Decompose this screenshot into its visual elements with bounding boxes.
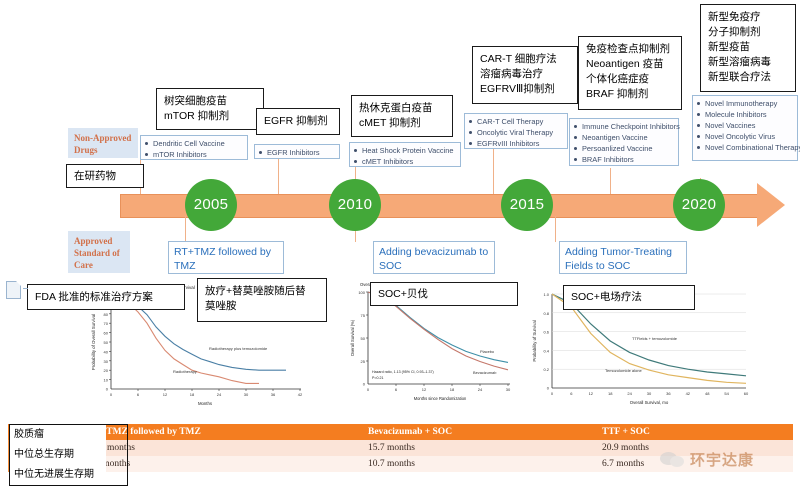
svg-text:18: 18: [190, 392, 195, 397]
chart-2-annotation-1: Hazard ratio, 1.13 (95% CI, 0.93–1.37): [372, 370, 434, 374]
chart-2-series-1-label: Placebo: [480, 349, 494, 354]
legend-approved-text: Approved Standard of Care: [74, 236, 120, 270]
therapy-en-item: Molecule Inhibitors: [697, 109, 793, 120]
therapy-cn-box-1[interactable]: 树突细胞疫苗 mTOR 抑制剂: [156, 88, 264, 130]
soc-label: Adding bevacizumab to SOC: [379, 246, 488, 272]
chart-2-ylabel: Overall Survival (%): [350, 319, 355, 356]
tick-line-lower: [185, 216, 186, 242]
chart-1-series-2-label: Radiotherapy: [173, 369, 197, 374]
soc-label: RT+TMZ followed by TMZ: [174, 246, 271, 272]
chart-cn-callout-2[interactable]: 放疗+替莫唑胺随后替 莫唑胺: [197, 278, 327, 322]
therapy-en-box-4[interactable]: CAR-T Cell Therapy Oncolytic Viral Thera…: [464, 113, 568, 149]
wechat-watermark: 环宇达康: [660, 438, 795, 480]
svg-text:48: 48: [705, 391, 710, 396]
slide-canvas: 2005 2010 2015 2020 Non-Approved Drugs 在…: [0, 0, 800, 491]
svg-text:80: 80: [104, 312, 109, 317]
svg-text:50: 50: [361, 336, 366, 341]
therapy-en-item: Immune Checkpoint Inhibitors: [574, 121, 674, 132]
svg-text:40: 40: [104, 349, 109, 354]
connector-dash: [23, 288, 28, 289]
therapy-cn-line: mTOR 抑制剂: [164, 109, 256, 124]
chart-cn-callout-3[interactable]: SOC+贝伐: [370, 282, 518, 306]
svg-text:25: 25: [361, 359, 366, 364]
svg-text:0.6: 0.6: [543, 330, 549, 335]
svg-text:0: 0: [367, 387, 370, 392]
therapy-cn-line: 热休克蛋白疫苗: [359, 101, 445, 116]
soc-label: Adding Tumor-Treating Fields to SOC: [565, 246, 672, 272]
therapy-cn-line: 分子抑制剂: [708, 25, 788, 40]
soc-box-1[interactable]: RT+TMZ followed by TMZ: [168, 241, 284, 274]
svg-text:36: 36: [666, 391, 671, 396]
therapy-en-box-6[interactable]: Novel Immunotherapy Molecule Inhibitors …: [692, 95, 798, 161]
soc-box-3[interactable]: Adding Tumor-Treating Fields to SOC: [559, 241, 687, 274]
therapy-cn-line: 新型免疫疗: [708, 10, 788, 25]
svg-text:20: 20: [104, 368, 109, 373]
svg-text:6: 6: [570, 391, 573, 396]
svg-text:24: 24: [217, 392, 222, 397]
chart-1-series-1-label: Radiotherapy plus temozolomide: [209, 346, 268, 351]
chart-1-ylabel: Probability of Overall Survival: [91, 314, 96, 370]
timeline-year-2005[interactable]: 2005: [185, 179, 237, 231]
svg-text:0.4: 0.4: [543, 348, 549, 353]
svg-text:12: 12: [589, 391, 594, 396]
tick-line-lower: [555, 216, 556, 242]
overlay-cn-line: 中位无进展生存期: [10, 465, 106, 485]
therapy-cn-line: BRAF 抑制剂: [586, 87, 674, 102]
legend-non-approved-cn: 在研药物: [74, 170, 136, 183]
chart-cn-line: 放疗+替莫唑胺随后替: [205, 284, 319, 299]
chart-cn-line: SOC+贝伐: [378, 287, 428, 302]
svg-text:0.2: 0.2: [543, 367, 549, 372]
timeline-year-2020[interactable]: 2020: [673, 179, 725, 231]
chart-3-xlabel: Overall Survival, mo: [630, 400, 669, 405]
therapy-cn-line: 树突细胞疫苗: [164, 94, 256, 109]
svg-text:30: 30: [506, 387, 511, 392]
legend-non-approved-cn-box[interactable]: 在研药物: [66, 164, 144, 188]
svg-text:30: 30: [244, 392, 249, 397]
svg-text:18: 18: [608, 391, 613, 396]
timeline-year-2010[interactable]: 2010: [329, 179, 381, 231]
therapy-cn-box-6[interactable]: 新型免疫疗 分子抑制剂 新型疫苗 新型溶瘤病毒 新型联合疗法: [700, 4, 796, 92]
svg-text:30: 30: [104, 359, 109, 364]
table-overlay-cn-box[interactable]: 胶质瘤 中位总生存期 中位无进展生存期: [9, 424, 128, 486]
svg-text:0: 0: [551, 391, 554, 396]
therapy-cn-box-5[interactable]: 免疫检查点抑制剂 Neoantigen 疫苗 个体化癌症疫 BRAF 抑制剂: [578, 36, 682, 110]
therapy-cn-line: CAR-T 细胞疗法: [480, 52, 570, 67]
therapy-en-item: Novel Combinational Therapy: [697, 142, 793, 153]
therapy-en-box-2[interactable]: EGFR Inhibitors: [254, 144, 340, 159]
chart-cn-line: FDA 批准的标准治疗方案: [35, 290, 153, 305]
timeline-year-2015[interactable]: 2015: [501, 179, 553, 231]
overlay-cn-line: 胶质瘤: [10, 425, 106, 445]
svg-text:24: 24: [478, 387, 483, 392]
therapy-cn-line: cMET 抑制剂: [359, 116, 445, 131]
therapy-cn-line: 免疫检查点抑制剂: [586, 42, 674, 57]
svg-text:12: 12: [422, 387, 427, 392]
svg-text:42: 42: [686, 391, 691, 396]
therapy-cn-line: 溶瘤病毒治疗: [480, 67, 570, 82]
svg-text:0: 0: [363, 382, 366, 387]
therapy-cn-line: 新型溶瘤病毒: [708, 55, 788, 70]
therapy-en-item: mTOR Inhibitors: [145, 149, 243, 160]
svg-text:50: 50: [104, 340, 109, 345]
therapy-en-item: Neoantigen Vaccine: [574, 132, 674, 143]
tick-line: [610, 168, 611, 194]
svg-text:75: 75: [361, 313, 366, 318]
therapy-en-item: Novel Vaccines: [697, 120, 793, 131]
svg-text:0: 0: [106, 387, 109, 392]
therapy-en-item: Oncolytic Viral Therapy: [469, 127, 563, 138]
therapy-cn-box-2[interactable]: EGFR 抑制剂: [256, 108, 340, 135]
svg-text:100: 100: [358, 290, 365, 295]
svg-text:36: 36: [271, 392, 276, 397]
therapy-en-item: EGFR Inhibitors: [259, 147, 335, 158]
therapy-cn-line: EGFR 抑制剂: [264, 114, 332, 129]
table-cell: 10.7 months: [362, 456, 596, 472]
legend-approved-label: Approved Standard of Care: [68, 231, 130, 273]
table-header-bev: Bevacizumab + SOC: [362, 424, 596, 440]
svg-text:54: 54: [724, 391, 729, 396]
therapy-en-item: Novel Oncolytic Virus: [697, 131, 793, 142]
therapy-en-item: EGFRvIII Inhibitors: [469, 138, 563, 149]
svg-text:6: 6: [137, 392, 140, 397]
svg-text:24: 24: [627, 391, 632, 396]
table-cell: 15.7 months: [362, 440, 596, 456]
svg-text:1.0: 1.0: [543, 292, 549, 297]
svg-text:60: 60: [744, 391, 749, 396]
svg-text:42: 42: [298, 392, 303, 397]
chart-cn-line: SOC+电场疗法: [571, 290, 642, 305]
tick-line: [278, 158, 279, 194]
therapy-en-box-1[interactable]: Dendritic Cell Vaccine mTOR Inhibitors: [140, 135, 248, 160]
svg-text:0: 0: [110, 392, 113, 397]
therapy-cn-line: 个体化癌症疫: [586, 72, 674, 87]
therapy-en-item: CAR-T Cell Therapy: [469, 116, 563, 127]
watermark-text: 环宇达康: [690, 449, 754, 470]
soc-box-2[interactable]: Adding bevacizumab to SOC: [373, 241, 495, 274]
tick-line: [493, 148, 494, 194]
therapy-cn-line: Neoantigen 疫苗: [586, 57, 674, 72]
therapy-en-box-5[interactable]: Immune Checkpoint Inhibitors Neoantigen …: [569, 118, 679, 166]
chart-cn-callout-4[interactable]: SOC+电场疗法: [563, 285, 695, 310]
therapy-en-item: Novel Immunotherapy: [697, 98, 793, 109]
therapy-en-item: Heat Shock Protein Vaccine: [354, 145, 456, 156]
therapy-en-item: Dendritic Cell Vaccine: [145, 138, 243, 149]
chart-2-xlabel: Months since Randomization: [414, 396, 467, 401]
svg-text:18: 18: [450, 387, 455, 392]
chart-3-series-1-label: TTFields + temozolomide: [632, 336, 678, 341]
overlay-cn-line: 中位总生存期: [10, 445, 106, 465]
therapy-cn-box-4[interactable]: CAR-T 细胞疗法 溶瘤病毒治疗 EGFRVⅢ抑制剂: [472, 46, 578, 104]
svg-text:0.8: 0.8: [543, 311, 549, 316]
therapy-cn-line: 新型联合疗法: [708, 70, 788, 85]
svg-text:30: 30: [647, 391, 652, 396]
chart-3-ylabel: Probability of Survival: [532, 320, 537, 361]
timeline-arrowhead: [757, 183, 785, 227]
therapy-en-item: cMET Inhibitors: [354, 156, 456, 167]
therapy-cn-line: 新型疫苗: [708, 40, 788, 55]
chart-2-annotation-2: P=0.21: [372, 376, 384, 380]
therapy-en-item: Persoanlized Vaccine: [574, 143, 674, 154]
svg-text:12: 12: [163, 392, 168, 397]
wechat-icon: [660, 450, 686, 468]
therapy-cn-line: EGFRVⅢ抑制剂: [480, 82, 570, 97]
legend-non-approved-label: Non-Approved Drugs: [68, 128, 138, 158]
chart-3-series-2-label: Temozolomide alone: [605, 368, 642, 373]
therapy-en-item: BRAF Inhibitors: [574, 154, 674, 165]
chart-cn-line: 莫唑胺: [205, 299, 319, 314]
svg-text:6: 6: [395, 387, 398, 392]
svg-text:0: 0: [547, 386, 550, 391]
therapy-cn-box-3[interactable]: 热休克蛋白疫苗 cMET 抑制剂: [351, 95, 453, 137]
chart-2-series-2-label: Bevacizumab: [473, 370, 496, 375]
therapy-en-box-3[interactable]: Heat Shock Protein Vaccine cMET Inhibito…: [349, 142, 461, 167]
document-icon[interactable]: [6, 281, 21, 299]
svg-text:10: 10: [104, 378, 109, 383]
svg-text:70: 70: [104, 321, 109, 326]
chart-cn-callout-1[interactable]: FDA 批准的标准治疗方案: [27, 284, 185, 310]
legend-non-approved-text: Non-Approved Drugs: [74, 133, 131, 155]
svg-text:60: 60: [104, 331, 109, 336]
chart-1-xlabel: Months: [198, 401, 212, 406]
